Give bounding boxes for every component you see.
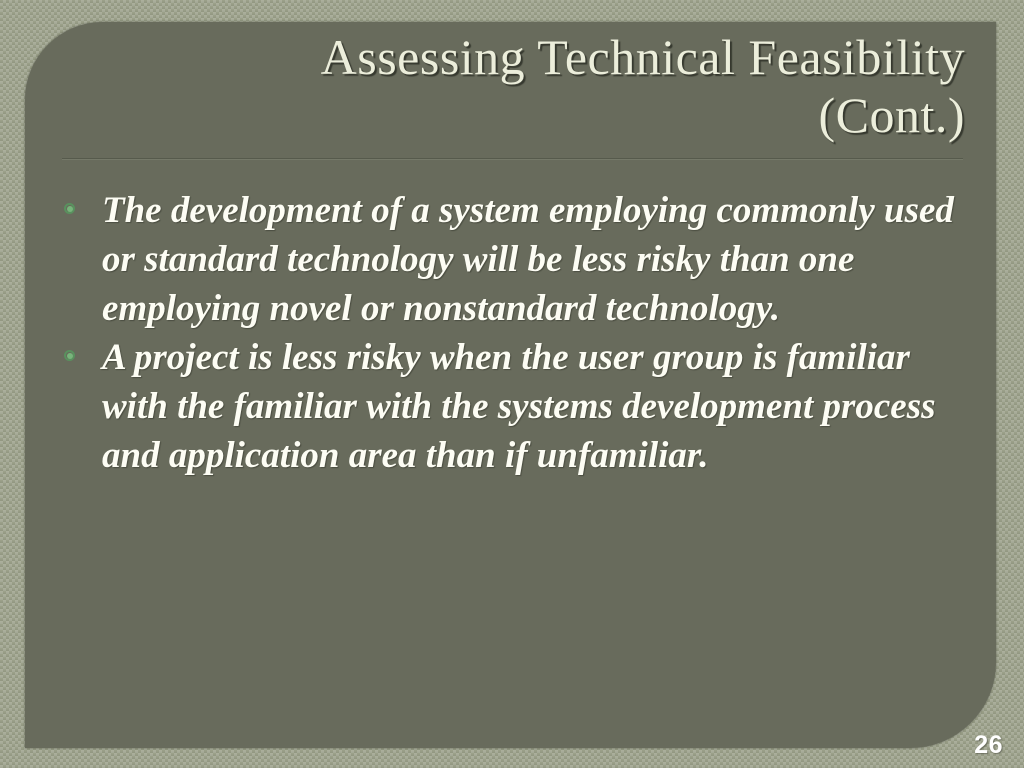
list-item: The development of a system employing co… xyxy=(58,186,970,333)
list-item: A project is less risky when the user gr… xyxy=(58,333,970,480)
bullet-text: A project is less risky when the user gr… xyxy=(102,337,936,476)
slide-title-line-1: Assessing Technical Feasibility xyxy=(55,28,965,86)
slide-number: 26 xyxy=(974,731,1003,760)
slide-title: Assessing Technical Feasibility (Cont.) xyxy=(55,28,965,144)
title-divider-rule xyxy=(62,158,963,159)
slide-bullet-list: The development of a system employing co… xyxy=(58,186,970,480)
slide-canvas: Assessing Technical Feasibility (Cont.) … xyxy=(0,0,1024,768)
slide-title-line-2: (Cont.) xyxy=(55,86,965,144)
ring-dot-bullet-icon xyxy=(64,203,75,214)
bullet-text: The development of a system employing co… xyxy=(102,190,954,329)
ring-dot-bullet-icon xyxy=(64,350,75,361)
